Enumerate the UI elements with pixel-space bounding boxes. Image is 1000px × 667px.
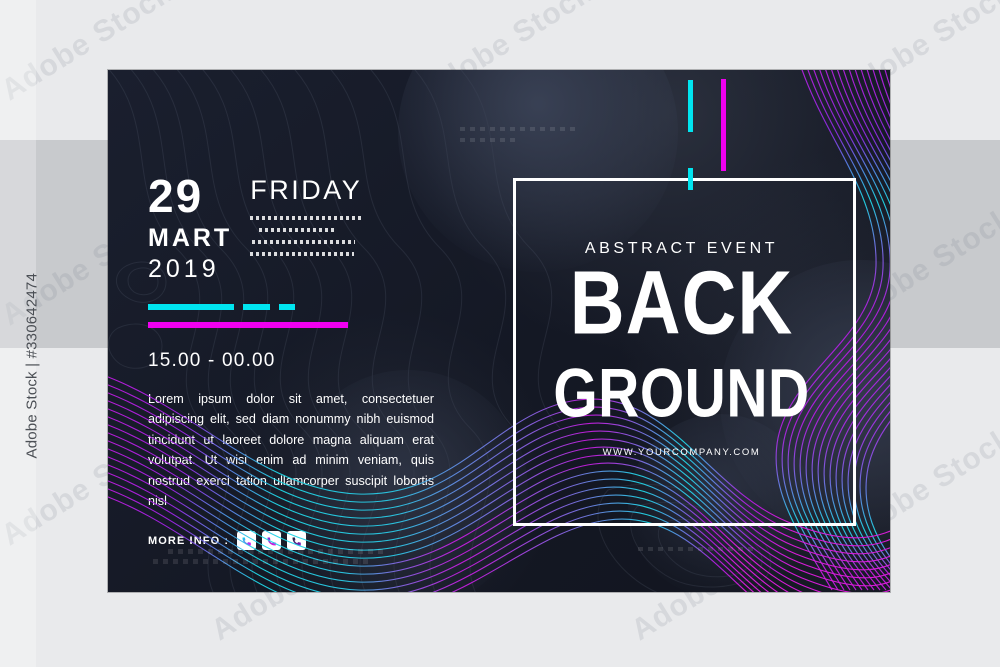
screenshot-canvas: Adobe Stock Adobe Stock Adobe Stock Adob… bbox=[0, 0, 1000, 667]
decor-dotted-rule bbox=[168, 549, 386, 554]
decor-dotted-rule bbox=[638, 547, 758, 551]
stock-sidebar-strip: Adobe Stock | #330642474 bbox=[0, 0, 36, 667]
decor-dotted-rule bbox=[153, 559, 373, 564]
decor-dotted-rule bbox=[460, 127, 578, 131]
website-url: WWW.YOURCOMPANY.COM bbox=[603, 447, 761, 458]
headline-line-1: BACK bbox=[570, 261, 794, 346]
event-poster: 29 MART 2019 FRIDAY 15.00 - 00.00 bbox=[108, 70, 890, 592]
headline-frame-content: ABSTRACT EVENT BACK GROUND WWW.YOURCOMPA… bbox=[513, 178, 850, 520]
stock-asset-id-label: Adobe Stock | #330642474 bbox=[24, 159, 41, 459]
decor-dotted-rule bbox=[460, 138, 518, 142]
magenta-vertical-bar-tall bbox=[721, 79, 726, 171]
cyan-vertical-bar-short bbox=[688, 168, 693, 190]
cyan-vertical-bar-tall bbox=[688, 80, 693, 132]
headline-line-2: GROUND bbox=[553, 360, 809, 428]
